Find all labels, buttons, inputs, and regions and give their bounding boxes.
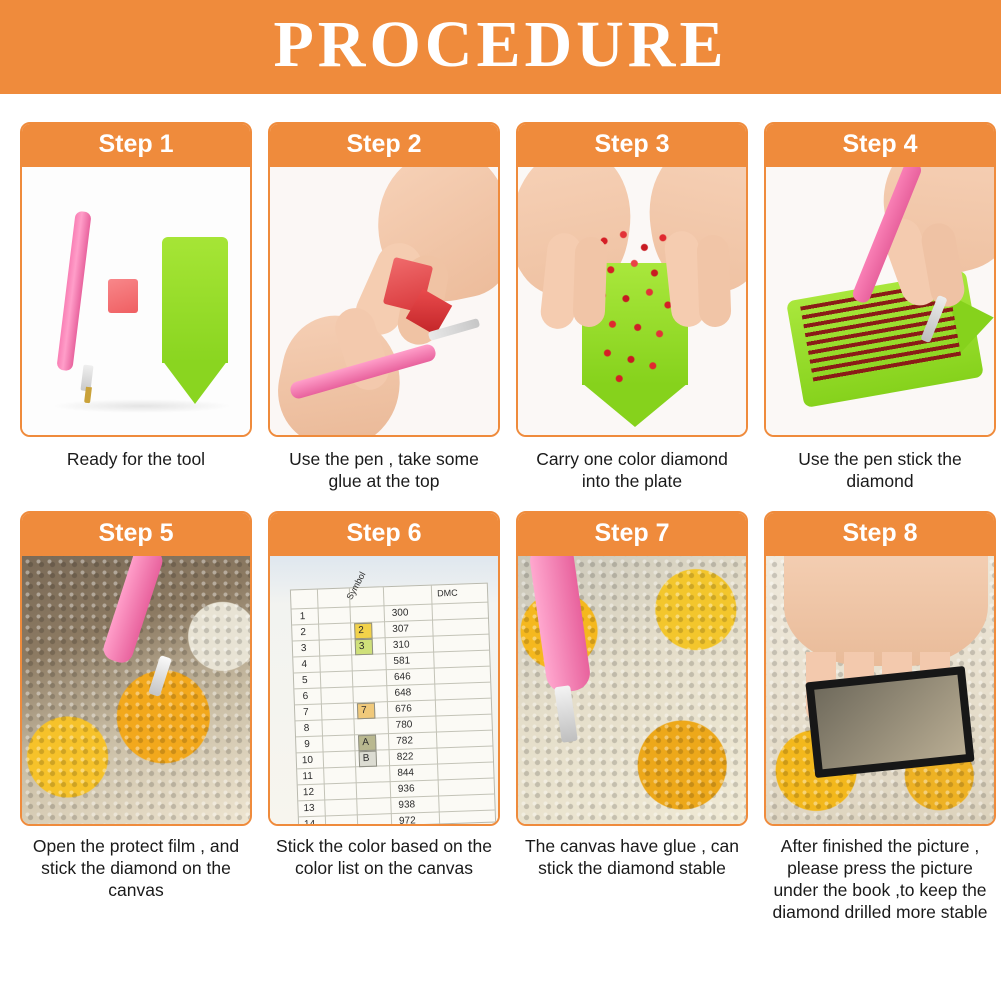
chart-dmc-code: 581 [393, 655, 410, 667]
pen-metal-tip-icon [554, 685, 578, 743]
step-2-caption: Use the pen , take some glue at the top [268, 437, 500, 511]
chart-dmc-code: 936 [398, 783, 415, 795]
book-icon [805, 666, 974, 778]
chart-header-symbol: Symbol [344, 570, 367, 601]
finger-icon [572, 236, 607, 327]
chart-dmc-code: 844 [397, 767, 414, 779]
chart-row-number: 11 [302, 771, 313, 782]
step-7-image [518, 556, 746, 824]
chart-row-number: 3 [301, 643, 307, 654]
step-1-title: Step 1 [22, 124, 250, 167]
chart-symbol: B [363, 753, 370, 764]
step-card-4: Step 4 Use the pen stick the diamond [764, 122, 996, 511]
page-title: PROCEDURE [273, 12, 727, 82]
chart-dmc-code: 780 [395, 719, 412, 731]
chart-row-number: 12 [303, 787, 315, 798]
step-1-image [22, 167, 250, 435]
chart-dmc-code: 646 [394, 671, 411, 683]
green-tray-icon [162, 237, 228, 363]
procedure-infographic: PROCEDURE Step 1 Ready for the tool [0, 0, 1001, 1001]
steps-grid: Step 1 Ready for the tool Step 2 [0, 94, 1001, 924]
chart-dmc-code: 972 [399, 815, 416, 824]
chart-symbol: 3 [359, 641, 365, 652]
chart-header-dmc: DMC [437, 588, 458, 599]
chart-row-number: 10 [302, 755, 314, 766]
pink-pen-icon [528, 556, 592, 694]
step-7-caption: The canvas have glue , can stick the dia… [516, 826, 748, 900]
step-6-image: 1 2 3 4 5 6 7 8 9 10 11 12 13 14 [270, 556, 498, 824]
chart-row-number: 1 [300, 611, 306, 622]
step-5-title: Step 5 [22, 513, 250, 556]
step-6-caption: Stick the color based on the color list … [268, 826, 500, 900]
chart-row-number: 6 [302, 691, 308, 702]
step-6-card: Step 6 [268, 511, 500, 826]
step-card-7: Step 7 The canvas have glue , can stick … [516, 511, 748, 924]
tray-spout-icon [162, 360, 228, 404]
step-3-card: Step 3 [516, 122, 748, 437]
chart-dmc-code: 648 [394, 687, 411, 699]
chart-row-number: 4 [301, 659, 307, 670]
step-8-image [766, 556, 994, 824]
tray-spout-icon [582, 383, 688, 427]
step-8-card: Step 8 [764, 511, 996, 826]
pink-pen-icon [101, 556, 166, 666]
step-3-title: Step 3 [518, 124, 746, 167]
chart-dmc-code: 782 [396, 735, 413, 747]
chart-row-number: 13 [303, 803, 315, 814]
chart-row-number: 14 [304, 819, 316, 824]
step-2-title: Step 2 [270, 124, 498, 167]
step-2-card: Step 2 [268, 122, 500, 437]
step-card-8: Step 8 After finished the picture , plea… [764, 511, 996, 924]
chart-symbol: A [362, 737, 369, 748]
step-4-caption: Use the pen stick the diamond [764, 437, 996, 511]
color-symbol-chart: 1 2 3 4 5 6 7 8 9 10 11 12 13 14 [290, 583, 496, 824]
step-card-2: Step 2 Use the pen , take some glue at t… [268, 122, 500, 511]
step-card-3: Step 3 Carry one color diamond into the … [516, 122, 748, 511]
step-8-title: Step 8 [766, 513, 994, 556]
pressing-hand-icon [784, 556, 988, 666]
chart-dmc-code: 307 [392, 623, 409, 635]
step-1-card: Step 1 [20, 122, 252, 437]
chart-row-number: 2 [300, 627, 306, 638]
pink-pen-icon [56, 211, 91, 372]
header-banner: PROCEDURE [0, 0, 1001, 94]
step-3-image [518, 167, 746, 435]
chart-symbol: 2 [358, 625, 364, 636]
step-card-5: Step 5 Open the protect film , and stick… [20, 511, 252, 924]
step-5-card: Step 5 [20, 511, 252, 826]
step-2-image [270, 167, 498, 435]
chart-dmc-code: 822 [397, 751, 414, 763]
step-3-caption: Carry one color diamond into the plate [516, 437, 748, 511]
step-8-caption: After finished the picture , please pres… [764, 826, 996, 924]
step-1-caption: Ready for the tool [20, 437, 252, 511]
chart-symbol: 7 [361, 705, 367, 716]
step-5-image [22, 556, 250, 824]
step-7-card: Step 7 [516, 511, 748, 826]
chart-dmc-code: 938 [398, 799, 415, 811]
chart-row-number: 8 [304, 723, 310, 734]
chart-dmc-code: 310 [393, 639, 410, 651]
step-4-card: Step 4 [764, 122, 996, 437]
book-cover-inner [814, 675, 966, 770]
step-7-title: Step 7 [518, 513, 746, 556]
chart-row-number: 5 [302, 675, 308, 686]
step-4-image [766, 167, 994, 435]
step-5-caption: Open the protect film , and stick the di… [20, 826, 252, 902]
chart-dmc-code: 676 [395, 703, 412, 715]
glue-wax-icon [108, 279, 138, 313]
chart-row-number: 9 [304, 739, 310, 750]
step-6-title: Step 6 [270, 513, 498, 556]
step-4-title: Step 4 [766, 124, 994, 167]
chart-row-number: 7 [303, 707, 309, 718]
step-card-6: Step 6 [268, 511, 500, 924]
step-card-1: Step 1 Ready for the tool [20, 122, 252, 511]
chart-dmc-code: 300 [392, 607, 409, 619]
finger-icon [696, 234, 731, 327]
pen-metal-tip-icon [148, 655, 172, 697]
